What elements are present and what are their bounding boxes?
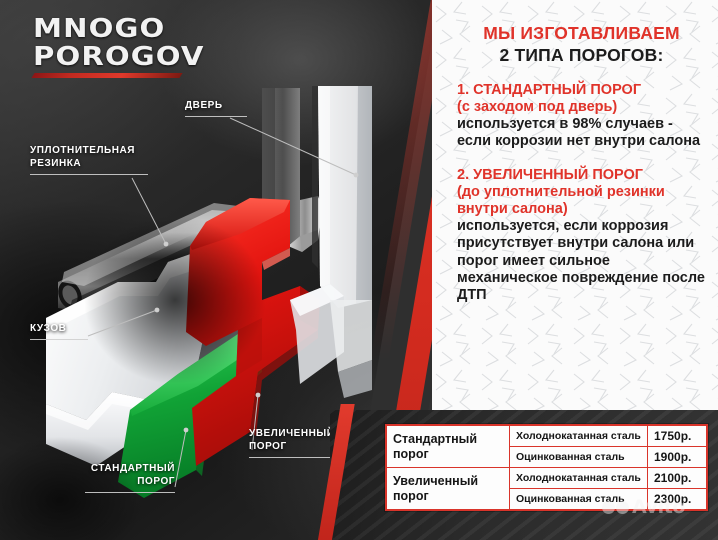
- copy-block-extended: 2. УВЕЛИЧЕННЫЙ ПОРОГ (до уплотнительной …: [457, 167, 706, 305]
- callout-body-rule: [30, 339, 88, 340]
- price-material: Оцинкованная сталь: [510, 447, 648, 468]
- callout-body: КУЗОВ: [30, 323, 88, 340]
- callout-door: ДВЕРЬ: [185, 100, 247, 117]
- infographic-canvas: MNOGO POROGOV ДВЕРЬ УПЛОТНИТЕЛЬНАЯ РЕЗИН…: [0, 0, 718, 540]
- callout-rubber-seal-rule: [30, 174, 148, 175]
- callout-extended-sill: УВЕЛИЧЕННЫЙ ПОРОГ: [249, 428, 339, 458]
- price-material: Оцинкованная сталь: [510, 489, 648, 511]
- callout-rubber-seal-label: УПЛОТНИТЕЛЬНАЯ РЕЗИНКА: [30, 145, 148, 171]
- copy-block-extended-body: используется, если коррозия присутствует…: [457, 218, 706, 305]
- copy-block-standard-subtitle: (с заходом под дверь): [457, 99, 706, 116]
- brand-logo: MNOGO POROGOV: [33, 16, 193, 70]
- logo-line-2: POROGOV: [33, 44, 212, 70]
- callout-door-label: ДВЕРЬ: [185, 100, 247, 113]
- door-skin-highlight: [318, 86, 330, 288]
- copy-block-extended-subtitle: (до уплотнительной резинки внутри салона…: [457, 184, 706, 218]
- price-value: 2100р.: [648, 468, 708, 489]
- callout-standard-sill: СТАНДАРТНЫЙ ПОРОГ: [85, 463, 175, 493]
- copy-block-standard-body: используется в 98% случаев - если корроз…: [457, 116, 706, 151]
- logo-line-1: MNOGO: [33, 16, 212, 42]
- price-table: Стандартный порог Холоднокатанная сталь …: [385, 424, 708, 511]
- table-row: Стандартный порог Холоднокатанная сталь …: [386, 425, 707, 447]
- price-value: 1900р.: [648, 447, 708, 468]
- price-material: Холоднокатанная сталь: [510, 425, 648, 447]
- price-category-standard: Стандартный порог: [386, 425, 510, 468]
- price-value: 1750р.: [648, 425, 708, 447]
- headline-primary: МЫ ИЗГОТАВЛИВАЕМ: [457, 24, 706, 43]
- price-material: Холоднокатанная сталь: [510, 468, 648, 489]
- price-category-extended: Увеличенный порог: [386, 468, 510, 511]
- price-value: 2300р.: [648, 489, 708, 511]
- callout-body-label: КУЗОВ: [30, 323, 88, 336]
- callout-standard-sill-label: СТАНДАРТНЫЙ ПОРОГ: [85, 463, 175, 489]
- table-row: Увеличенный порог Холоднокатанная сталь …: [386, 468, 707, 489]
- callout-door-rule: [185, 116, 247, 117]
- callout-extended-sill-label: УВЕЛИЧЕННЫЙ ПОРОГ: [249, 428, 339, 454]
- copy-block-standard-title: 1. СТАНДАРТНЫЙ ПОРОГ: [457, 82, 706, 99]
- copy-block-standard: 1. СТАНДАРТНЫЙ ПОРОГ (с заходом под двер…: [457, 82, 706, 151]
- headline-secondary: 2 ТИПА ПОРОГОВ:: [457, 46, 706, 65]
- callout-extended-sill-rule: [249, 457, 339, 458]
- copy-block-extended-title: 2. УВЕЛИЧЕННЫЙ ПОРОГ: [457, 167, 706, 184]
- callout-standard-sill-rule: [85, 492, 175, 493]
- logo-accent-slash: [31, 73, 182, 78]
- door-skin-shadow: [356, 86, 372, 304]
- callout-rubber-seal: УПЛОТНИТЕЛЬНАЯ РЕЗИНКА: [30, 145, 148, 175]
